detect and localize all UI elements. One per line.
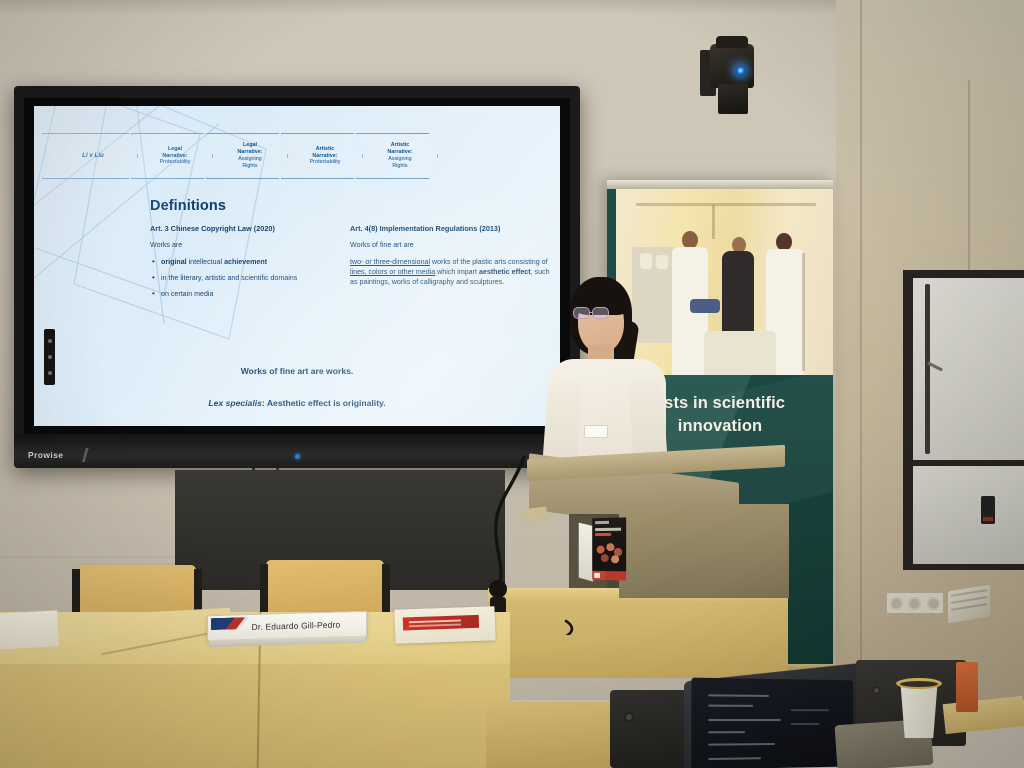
slide-conclusion-2-italic: Lex specialis [208,398,262,408]
chair-right [266,560,384,618]
tent-card-title-line [595,528,621,531]
tent-card-footer-mark [594,573,600,578]
photo-ergometer [704,331,776,379]
laptop[interactable] [684,670,860,768]
chevron-step-2-line3: Assigning [238,156,261,162]
slide-left-column: Art. 3 Chinese Copyright Law (2020) Work… [150,224,340,305]
desk-panel-knob [872,686,881,695]
booklet-band-text-lines [409,619,461,623]
display-brand-mark [76,448,94,462]
desk-bracket-center [610,690,688,768]
chevron-step-2-line2: Narrative: [237,149,262,156]
placard-name-text: Dr. Eduardo Gill-Pedro [234,620,341,633]
display-control-dot-1[interactable] [48,339,52,343]
chevron-step-4-line3: Assigning [388,156,411,162]
chevron-step-4-line1: Artistic [387,142,412,149]
glasses-bridge [590,312,592,313]
left-column-lead: Works are [150,240,340,250]
right-body-2: works of the plastic arts consisting of [430,258,548,266]
left-bullet-1-bold-a: original [161,258,187,266]
name-placard: Dr. Eduardo Gill-Pedro [207,611,367,649]
chevron-step-0: Li v Liu [42,133,138,179]
tent-card-footer [592,571,626,581]
photo-pole [802,253,805,371]
right-body-bold: aesthetic effect [479,268,531,276]
chevron-step-1-line1: Legal [160,146,191,153]
slide-conclusion-2: Lex specialis: Aesthetic effect is origi… [34,398,560,408]
promotional-tent-card [579,517,626,580]
glasses-left-lens [573,307,590,319]
screen-text-line-6 [708,757,761,760]
screen-text-line-7 [791,709,829,711]
slide-right-column: Art. 4(8) Implementation Regulations (20… [350,224,555,292]
wall-sockets [886,592,946,616]
right-body-underline-1: two- or three-dimensional [350,258,430,266]
chevron-step-3: Artistic Narrative: Protectability [281,133,363,179]
presenter-glasses [573,307,615,319]
paper-cup [896,676,942,738]
left-column-bullet-list: original intellectual achievement in the… [150,257,340,299]
screen-text-line-5 [708,743,775,746]
tent-card-right-face [592,517,626,580]
photo-bottle-1 [640,253,652,269]
booklet-red-band [403,615,479,631]
chevron-step-2: Legal Narrative: Assigning Rights [206,133,288,179]
chevron-step-0-label: Li v Liu [82,152,104,160]
slide-conclusion-1: Works of fine art are works. [34,366,560,376]
tent-card-left-face [579,523,593,582]
chair-right-back [266,560,384,618]
wall-seam [860,0,862,700]
chevron-step-2-line4: Rights [242,163,257,169]
whiteboard-slide-rail [925,284,930,454]
left-bullet-1-mid: intellectual [187,258,224,266]
chevron-step-4-line2: Narrative: [387,149,412,156]
wall-sockets-angled [948,585,990,624]
tent-card-subtitle-line [595,533,611,536]
screen-text-line-3 [708,719,781,721]
screen-text-line-8 [791,723,820,725]
right-body-4: which impart [435,268,479,276]
right-column-body: two- or three-dimensional works of the p… [350,257,555,287]
tent-card-logo [595,521,609,524]
socket-outlet-3 [927,597,940,610]
photo-ceiling-drop [712,205,715,239]
chevron-step-3-line1: Artistic [310,146,341,153]
display-power-led [295,454,300,459]
screen-text-line-4 [708,731,745,733]
cup-body [898,684,940,738]
banner-top-rail [607,180,833,189]
cup-rim [896,678,942,689]
banner-headline-line1: ests in scientific [655,394,785,412]
socket-plate [886,592,944,614]
slide-conclusion-2-rest: : Aesthetic effect is originality. [262,398,386,408]
desk-panel-center [486,702,616,768]
whiteboard-clamp [981,496,995,524]
presentation-slide: Li v Liu Legal Narrative: Protectability… [34,106,560,426]
right-column-lead: Works of fine art are [350,240,555,250]
photo-ceiling-rail [636,203,816,206]
chevron-step-3-line3: Protectability [310,159,341,165]
socket-outlet-1 [890,597,903,610]
left-column-heading: Art. 3 Chinese Copyright Law (2020) [150,224,340,233]
chevron-step-1-line2: Narrative: [160,153,191,160]
screen-text-line-2 [708,705,753,707]
chevron-step-1-line3: Protectability [160,159,191,165]
laptop-screen[interactable] [691,678,853,768]
orange-object [956,662,978,712]
red-banded-booklet [394,606,495,643]
glasses-right-lens [592,307,609,319]
socket-angled-lines [951,589,987,597]
process-chevron-bar: Li v Liu Legal Narrative: Protectability… [42,133,560,179]
screen-text-line-1 [708,694,769,697]
left-bullet-2: in the literary, artistic and scientific… [150,273,340,283]
mic-capsule [489,580,507,598]
right-column-heading: Art. 4(8) Implementation Regulations (20… [350,224,555,233]
left-bullet-1: original intellectual achievement [150,257,340,267]
whiteboard-panel-lower [913,466,1024,564]
camera-stem [718,84,748,114]
chevron-step-3-line2: Narrative: [310,153,341,160]
photo-handlebar [690,299,720,313]
display-side-controls[interactable] [44,329,55,385]
chevron-step-4-line4: Rights [392,163,407,169]
chevron-step-4: Artistic Narrative: Assigning Rights [356,133,438,179]
left-bullet-1-bold-b: achievement [224,258,267,266]
camera-body [710,44,754,88]
mic-gooseneck-arm [496,457,524,583]
prowise-display[interactable]: Li v Liu Legal Narrative: Protectability… [14,86,580,468]
clamp-red-tab [983,517,993,521]
display-brand-label: Prowise [28,450,63,460]
ceiling-camera [700,32,762,116]
lectern-front-panel [619,504,789,598]
display-control-dot-2[interactable] [48,355,52,359]
paper-sheet-left [0,610,59,649]
presentation-room-photo: Li v Liu Legal Narrative: Protectability… [0,0,1024,768]
whiteboard [903,270,1024,570]
photo-bottle-2 [656,255,668,269]
socket-outlet-2 [908,597,921,610]
presenter-name-badge [584,425,608,438]
chevron-step-1: Legal Narrative: Protectability [131,133,213,179]
slide-title: Definitions [150,198,226,214]
tent-card-image [595,540,623,564]
camera-status-led [736,66,745,75]
right-body-underline-2: lines, colors or other media [350,268,435,276]
display-control-dot-3[interactable] [48,371,52,375]
bracket-bolt [624,712,634,722]
chevron-step-2-line1: Legal [237,142,262,149]
left-bullet-3: on certain media [150,289,340,299]
